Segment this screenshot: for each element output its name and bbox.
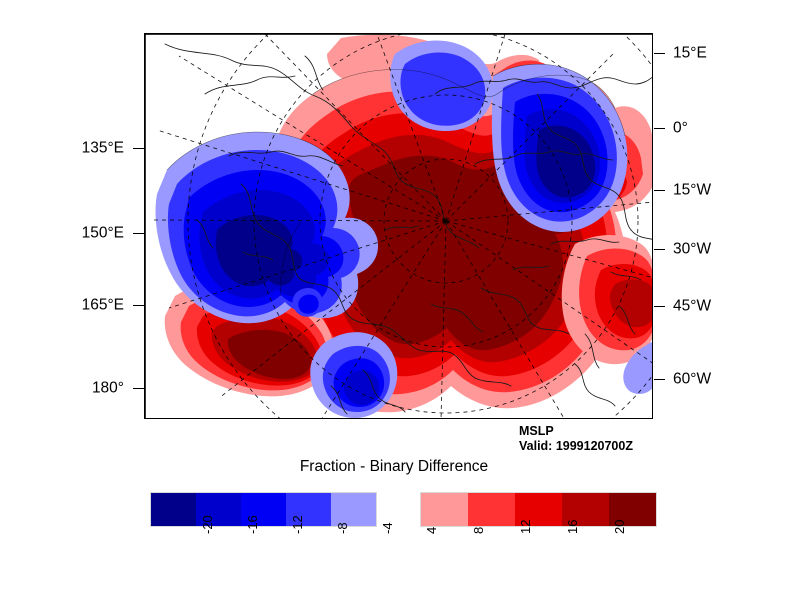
page-title-text: Fraction - Binary Difference [300,458,488,475]
colorbar-tick-neg-20: -20 [201,515,214,534]
page-title: Fraction - Binary Difference [0,458,792,476]
axis-label-0: 0° [673,120,688,136]
right-tick [654,379,665,380]
right-tick [654,306,665,307]
right-tick [654,190,665,191]
left-tick [133,148,144,149]
colorbar-tick-neg-4: -4 [381,522,394,534]
colorbar-tick-neg-16: -16 [246,515,259,534]
valid-time: Valid: 1999120700Z [519,439,633,454]
colorbar-cell-neg-4 [331,493,376,526]
colorbar-tick-neg-12: -12 [291,515,304,534]
colorbar-tick-pos-16: 16 [566,520,579,534]
axis-label-30W: 30°W [673,241,711,257]
colorbar-cell-pos-8 [468,493,515,526]
colorbar-tick-pos-8: 8 [472,527,485,534]
colorbar-tick-pos-20: 20 [613,520,626,534]
axis-label-60W: 60°W [673,371,711,387]
left-tick [133,388,144,389]
axis-label-180: 180° [0,380,124,396]
left-tick [133,233,144,234]
colorbar-tick-neg-8: -8 [336,522,349,534]
field-annotation: MSLP Valid: 1999120700Z [519,424,633,455]
figure-root: 135°E 150°E 165°E 180° 15°E 0° 15°W 30°W… [0,0,792,612]
axis-label-150E: 150°E [0,225,124,241]
colorbar-cell-neg-20 [151,493,196,526]
colorbar-tick-pos-4: 4 [425,527,438,534]
right-tick [654,128,665,129]
right-tick [654,53,665,54]
colorbar-tick-pos-12: 12 [519,520,532,534]
polar-difference-map [145,34,653,419]
axis-label-45W: 45°W [673,298,711,314]
right-tick [654,249,665,250]
axis-label-15E: 15°E [673,45,707,61]
map-plot-area [144,33,653,419]
axis-label-15W: 15°W [673,182,711,198]
field-name: MSLP [519,424,633,439]
colorbar-cell-pos-4 [421,493,468,526]
axis-label-165E: 165°E [0,297,124,313]
left-tick [133,305,144,306]
axis-label-135E: 135°E [0,140,124,156]
